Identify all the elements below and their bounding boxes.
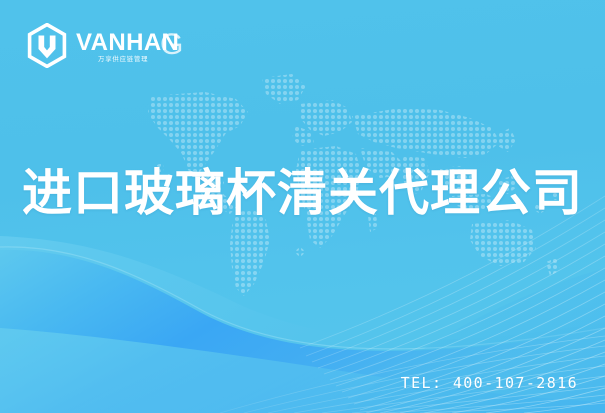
contact-telephone: TEL: 400-107-2816 — [401, 374, 578, 392]
promo-banner: G VANHAN 万享供应链管理 进口玻璃杯清关代理公司 TEL: 400-10… — [0, 0, 605, 413]
wordmark-main-text: VANHAN — [76, 29, 179, 56]
page-title: 进口玻璃杯清关代理公司 — [0, 163, 605, 223]
vanhang-hexagon-u-logo-icon — [27, 23, 67, 68]
wordmark-subtitle-cn: 万享供应链管理 — [98, 54, 148, 63]
brand-wordmark: G VANHAN 万享供应链管理 — [76, 23, 196, 68]
brand-logo[interactable]: G VANHAN 万享供应链管理 — [27, 22, 196, 68]
